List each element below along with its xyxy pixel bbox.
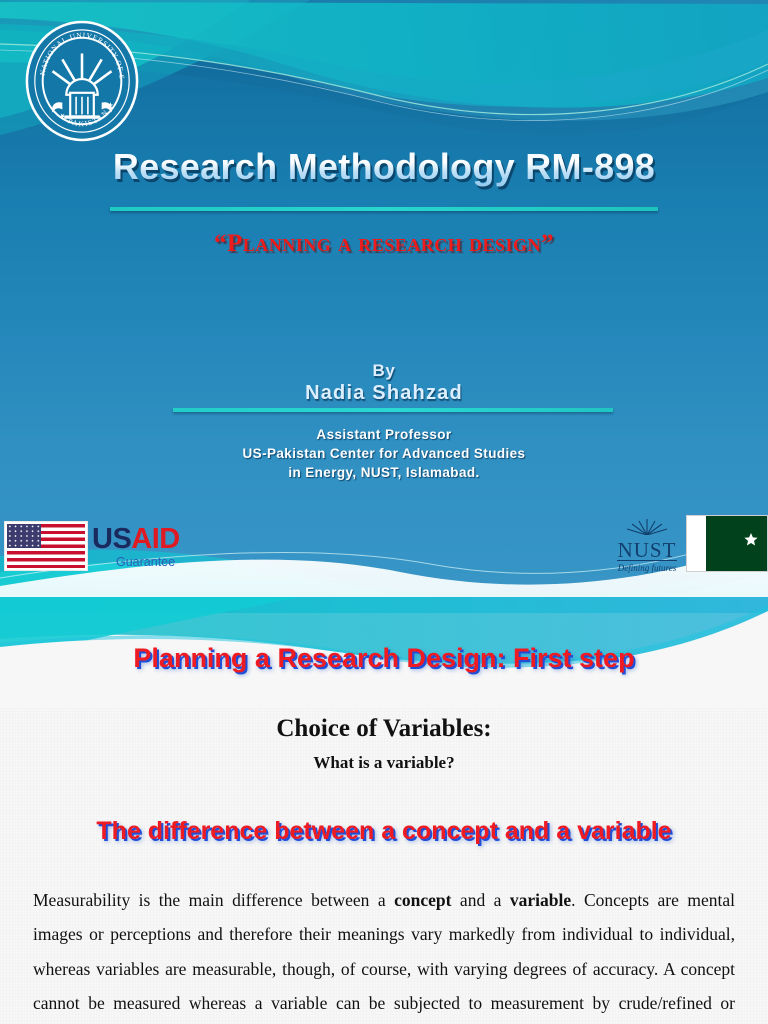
affiliation-block: Assistant Professor US-Pakistan Center f…	[0, 425, 768, 482]
section-heading: Planning a Research Design: First step	[0, 643, 768, 674]
by-label: By	[0, 360, 768, 382]
choice-of-variables-heading: Choice of Variables:	[0, 715, 768, 743]
nust-text: NUST	[617, 540, 678, 561]
presenter-divider	[173, 408, 613, 412]
us-flag-icon	[4, 521, 88, 571]
body-run-0: Measurability is the main difference bet…	[33, 890, 394, 910]
variable-question: What is a variable?	[0, 753, 768, 773]
affiliation-line-3: in Energy, NUST, Islamabad.	[0, 463, 768, 482]
slide-title: Research Methodology RM-898	[0, 146, 768, 188]
affiliation-line-1: Assistant Professor	[0, 425, 768, 444]
body-paragraph: Measurability is the main difference bet…	[33, 883, 735, 1024]
presenter-name: Nadia Shahzad	[0, 382, 768, 404]
usaid-tagline: Guarantee	[116, 555, 175, 569]
presenter-block: By Nadia Shahzad	[0, 360, 768, 404]
body-run-1: concept	[394, 890, 451, 910]
affiliation-line-2: US-Pakistan Center for Advanced Studies	[0, 444, 768, 463]
concept-variable-heading: The difference between a concept and a v…	[0, 817, 768, 846]
title-divider	[110, 207, 658, 211]
presentation-page: NATIONAL UNIVERSITY OF SCIENCES & TECHNO…	[0, 0, 768, 1024]
usaid-wordmark: USAID	[92, 523, 180, 556]
body-run-2: and a	[451, 890, 509, 910]
nust-wordmark-logo: NUST Defining futures	[608, 518, 686, 570]
content-slide: Planning a Research Design: First step C…	[0, 597, 768, 1024]
usaid-us-text: US	[92, 523, 131, 555]
slide-subtitle: “Planning a research design”	[0, 230, 768, 258]
usaid-logo: USAID Guarantee	[4, 521, 204, 569]
title-slide: NATIONAL UNIVERSITY OF SCIENCES & TECHNO…	[0, 0, 768, 597]
nust-rays-icon	[624, 518, 670, 535]
nust-tagline: Defining futures	[608, 562, 686, 574]
usaid-aid-text: AID	[131, 523, 179, 555]
body-run-3: variable	[510, 890, 571, 910]
pakistan-flag-icon	[686, 515, 768, 572]
nust-seal-logo: NATIONAL UNIVERSITY OF SCIENCES & TECHNO…	[23, 20, 141, 142]
